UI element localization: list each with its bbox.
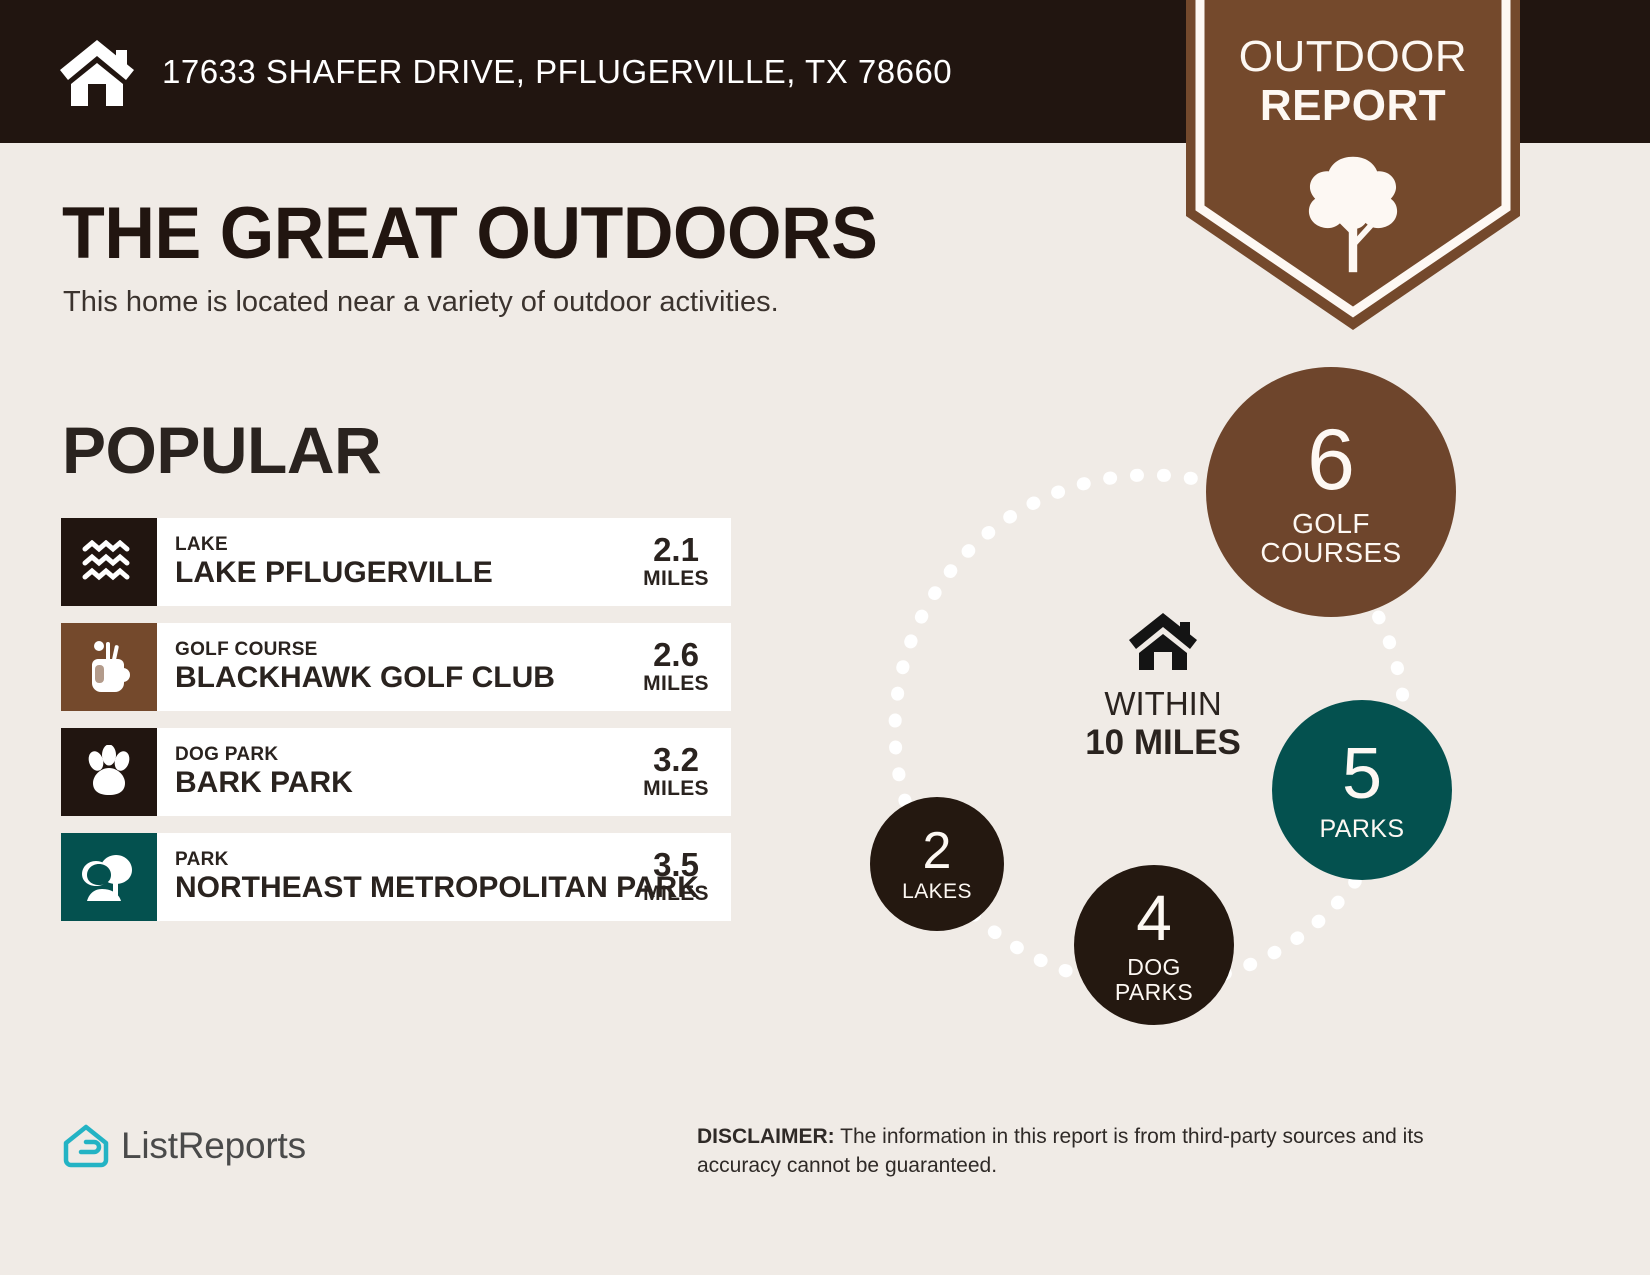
stat-count: 6: [1307, 417, 1355, 503]
list-item[interactable]: GOLF COURSE BLACKHAWK GOLF CLUB 2.6 MILE…: [61, 623, 731, 711]
list-item-category: GOLF COURSE: [175, 639, 639, 661]
popular-list: LAKE LAKE PFLUGERVILLE 2.1 MILES: [61, 518, 731, 938]
stat-count: 2: [923, 825, 952, 877]
stat-label: PARKS: [1320, 816, 1405, 842]
trees-icon: [61, 833, 157, 921]
list-item[interactable]: DOG PARK BARK PARK 3.2 MILES: [61, 728, 731, 816]
list-item-category: LAKE: [175, 534, 639, 556]
house-icon: [1068, 610, 1258, 677]
disclaimer: DISCLAIMER: The information in this repo…: [697, 1122, 1509, 1180]
stat-label: LAKES: [902, 881, 972, 903]
stat-label-line1: DOG: [1127, 954, 1181, 980]
stat-bubble-lakes[interactable]: 2 LAKES: [870, 797, 1004, 931]
radius-hub-line2: 10 MILES: [1068, 723, 1258, 762]
list-item-name: NORTHEAST METROPOLITAN PARK: [175, 871, 639, 905]
stat-label: GOLF COURSES: [1260, 509, 1401, 568]
stat-bubble-parks[interactable]: 5 PARKS: [1272, 700, 1452, 880]
stat-label-line1: GOLF: [1292, 508, 1370, 539]
list-item-unit: MILES: [639, 777, 713, 801]
list-item-distance: 3.5: [639, 848, 713, 882]
listreports-wordmark: ListReports: [121, 1125, 306, 1167]
golf-bag-icon: [61, 623, 157, 711]
list-item-category: PARK: [175, 849, 639, 871]
list-item[interactable]: LAKE LAKE PFLUGERVILLE 2.1 MILES: [61, 518, 731, 606]
badge-line1: OUTDOOR: [1186, 32, 1520, 81]
disclaimer-label: DISCLAIMER:: [697, 1125, 835, 1148]
popular-heading: POPULAR: [62, 412, 381, 488]
header-address: 17633 SHAFER DRIVE, PFLUGERVILLE, TX 786…: [162, 53, 952, 91]
stat-label-line2: COURSES: [1260, 537, 1401, 568]
list-item-distance: 2.1: [639, 533, 713, 567]
outdoor-report-badge: OUTDOOR REPORT: [1186, 0, 1520, 330]
list-item-name: LAKE PFLUGERVILLE: [175, 556, 639, 590]
badge-title: OUTDOOR REPORT: [1186, 32, 1520, 130]
radius-diagram: WITHIN 10 MILES 6 GOLF COURSES 5 PARKS 4…: [830, 355, 1490, 1055]
listreports-logo[interactable]: ListReports: [62, 1122, 306, 1170]
list-item-unit: MILES: [639, 567, 713, 591]
list-item-name: BARK PARK: [175, 766, 639, 800]
stat-label-line2: PARKS: [1115, 979, 1193, 1005]
list-item-unit: MILES: [639, 672, 713, 696]
paw-icon: [61, 728, 157, 816]
list-item-unit: MILES: [639, 882, 713, 906]
house-outline-icon: [62, 1122, 110, 1170]
stat-label: DOG PARKS: [1115, 955, 1193, 1003]
stat-bubble-dog-parks[interactable]: 4 DOG PARKS: [1074, 865, 1234, 1025]
badge-line2: REPORT: [1186, 81, 1520, 130]
list-item-distance: 2.6: [639, 638, 713, 672]
list-item-name: BLACKHAWK GOLF CLUB: [175, 661, 639, 695]
radius-hub-line1: WITHIN: [1068, 685, 1258, 723]
waves-icon: [61, 518, 157, 606]
stat-bubble-golf-courses[interactable]: 6 GOLF COURSES: [1206, 367, 1456, 617]
list-item-distance: 3.2: [639, 743, 713, 777]
page-title: THE GREAT OUTDOORS: [62, 192, 877, 275]
stat-count: 4: [1136, 886, 1172, 950]
radius-hub: WITHIN 10 MILES: [1068, 610, 1258, 762]
list-item-category: DOG PARK: [175, 744, 639, 766]
list-item[interactable]: PARK NORTHEAST METROPOLITAN PARK 3.5 MIL…: [61, 833, 731, 921]
house-icon: [58, 36, 136, 108]
stat-count: 5: [1342, 738, 1382, 810]
page-subtitle: This home is located near a variety of o…: [63, 286, 779, 319]
